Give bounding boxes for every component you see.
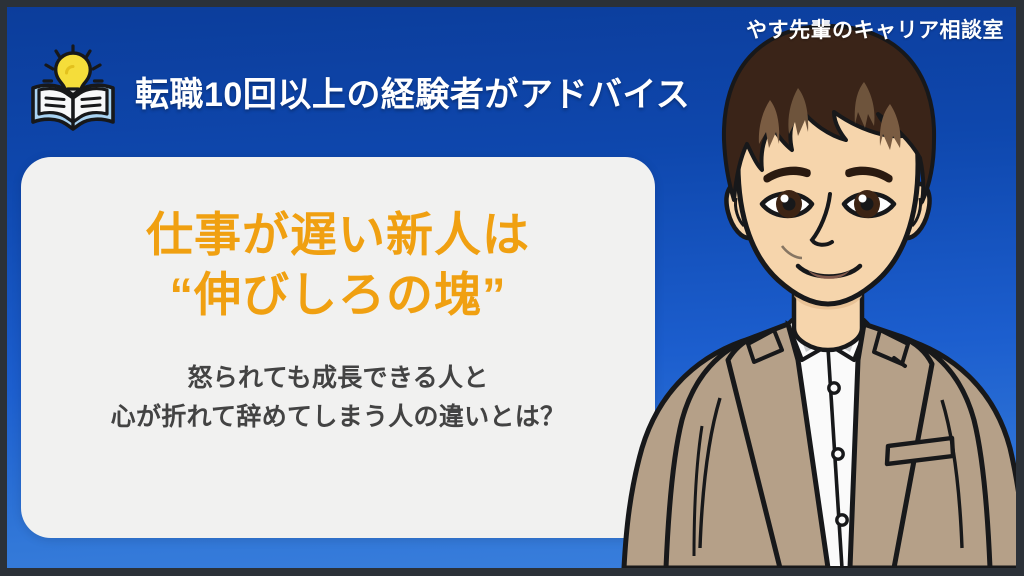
main-title-line-1: 仕事が遅い新人は (146, 205, 530, 265)
youtube-thumbnail: やす先輩のキャリア相談室 (0, 0, 1024, 576)
subtitle-line-1: 怒られても成長できる人と (111, 359, 566, 398)
thumbnail-stage: やす先輩のキャリア相談室 (7, 7, 1016, 568)
main-title: 仕事が遅い新人は “伸びしろの塊” (146, 205, 530, 325)
headline-text: 転職10回以上の経験者がアドバイス (135, 67, 690, 116)
subtitle-line-2: 心が折れて辞めてしまう人の違いとは？ (111, 398, 566, 437)
book-lightbulb-icon (25, 40, 121, 136)
main-title-line-2: “伸びしろの塊” (146, 265, 530, 325)
channel-name: やす先輩のキャリア相談室 (746, 14, 1004, 44)
header-row: 転職10回以上の経験者がアドバイス (25, 40, 690, 136)
content-card: 仕事が遅い新人は “伸びしろの塊” 怒られても成長できる人と 心が折れて辞めてし… (21, 157, 655, 538)
subtitle: 怒られても成長できる人と 心が折れて辞めてしまう人の違いとは？ (111, 359, 566, 437)
